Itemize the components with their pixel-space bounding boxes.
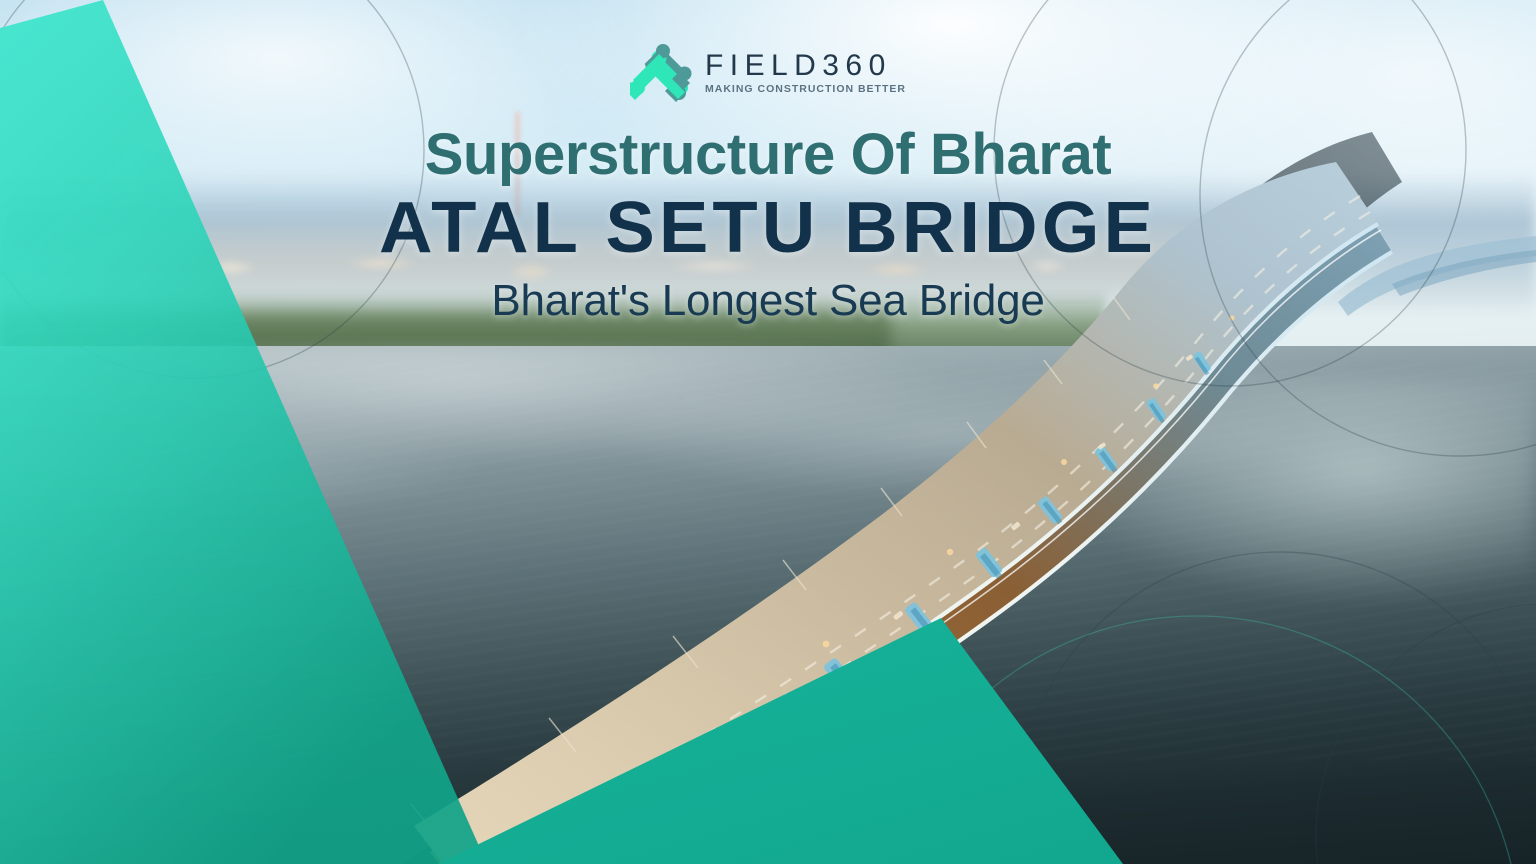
headline-title: ATAL SETU BRIDGE [0,192,1536,265]
chevron-roof-logo-icon [630,44,692,102]
headline-subtitle: Bharat's Longest Sea Bridge [0,277,1536,325]
brand-wordmark: FIELD360 [705,51,906,81]
brand-logo[interactable]: FIELD360 MAKING CONSTRUCTION BETTER [630,44,906,102]
headline-block: Superstructure Of Bharat ATAL SETU BRIDG… [0,124,1536,326]
brand-logo-text: FIELD360 MAKING CONSTRUCTION BETTER [705,51,906,95]
headline-eyebrow: Superstructure Of Bharat [0,124,1536,186]
content-stack: FIELD360 MAKING CONSTRUCTION BETTER Supe… [0,0,1536,864]
banner-canvas: FIELD360 MAKING CONSTRUCTION BETTER Supe… [0,0,1536,864]
brand-tagline: MAKING CONSTRUCTION BETTER [705,84,906,95]
